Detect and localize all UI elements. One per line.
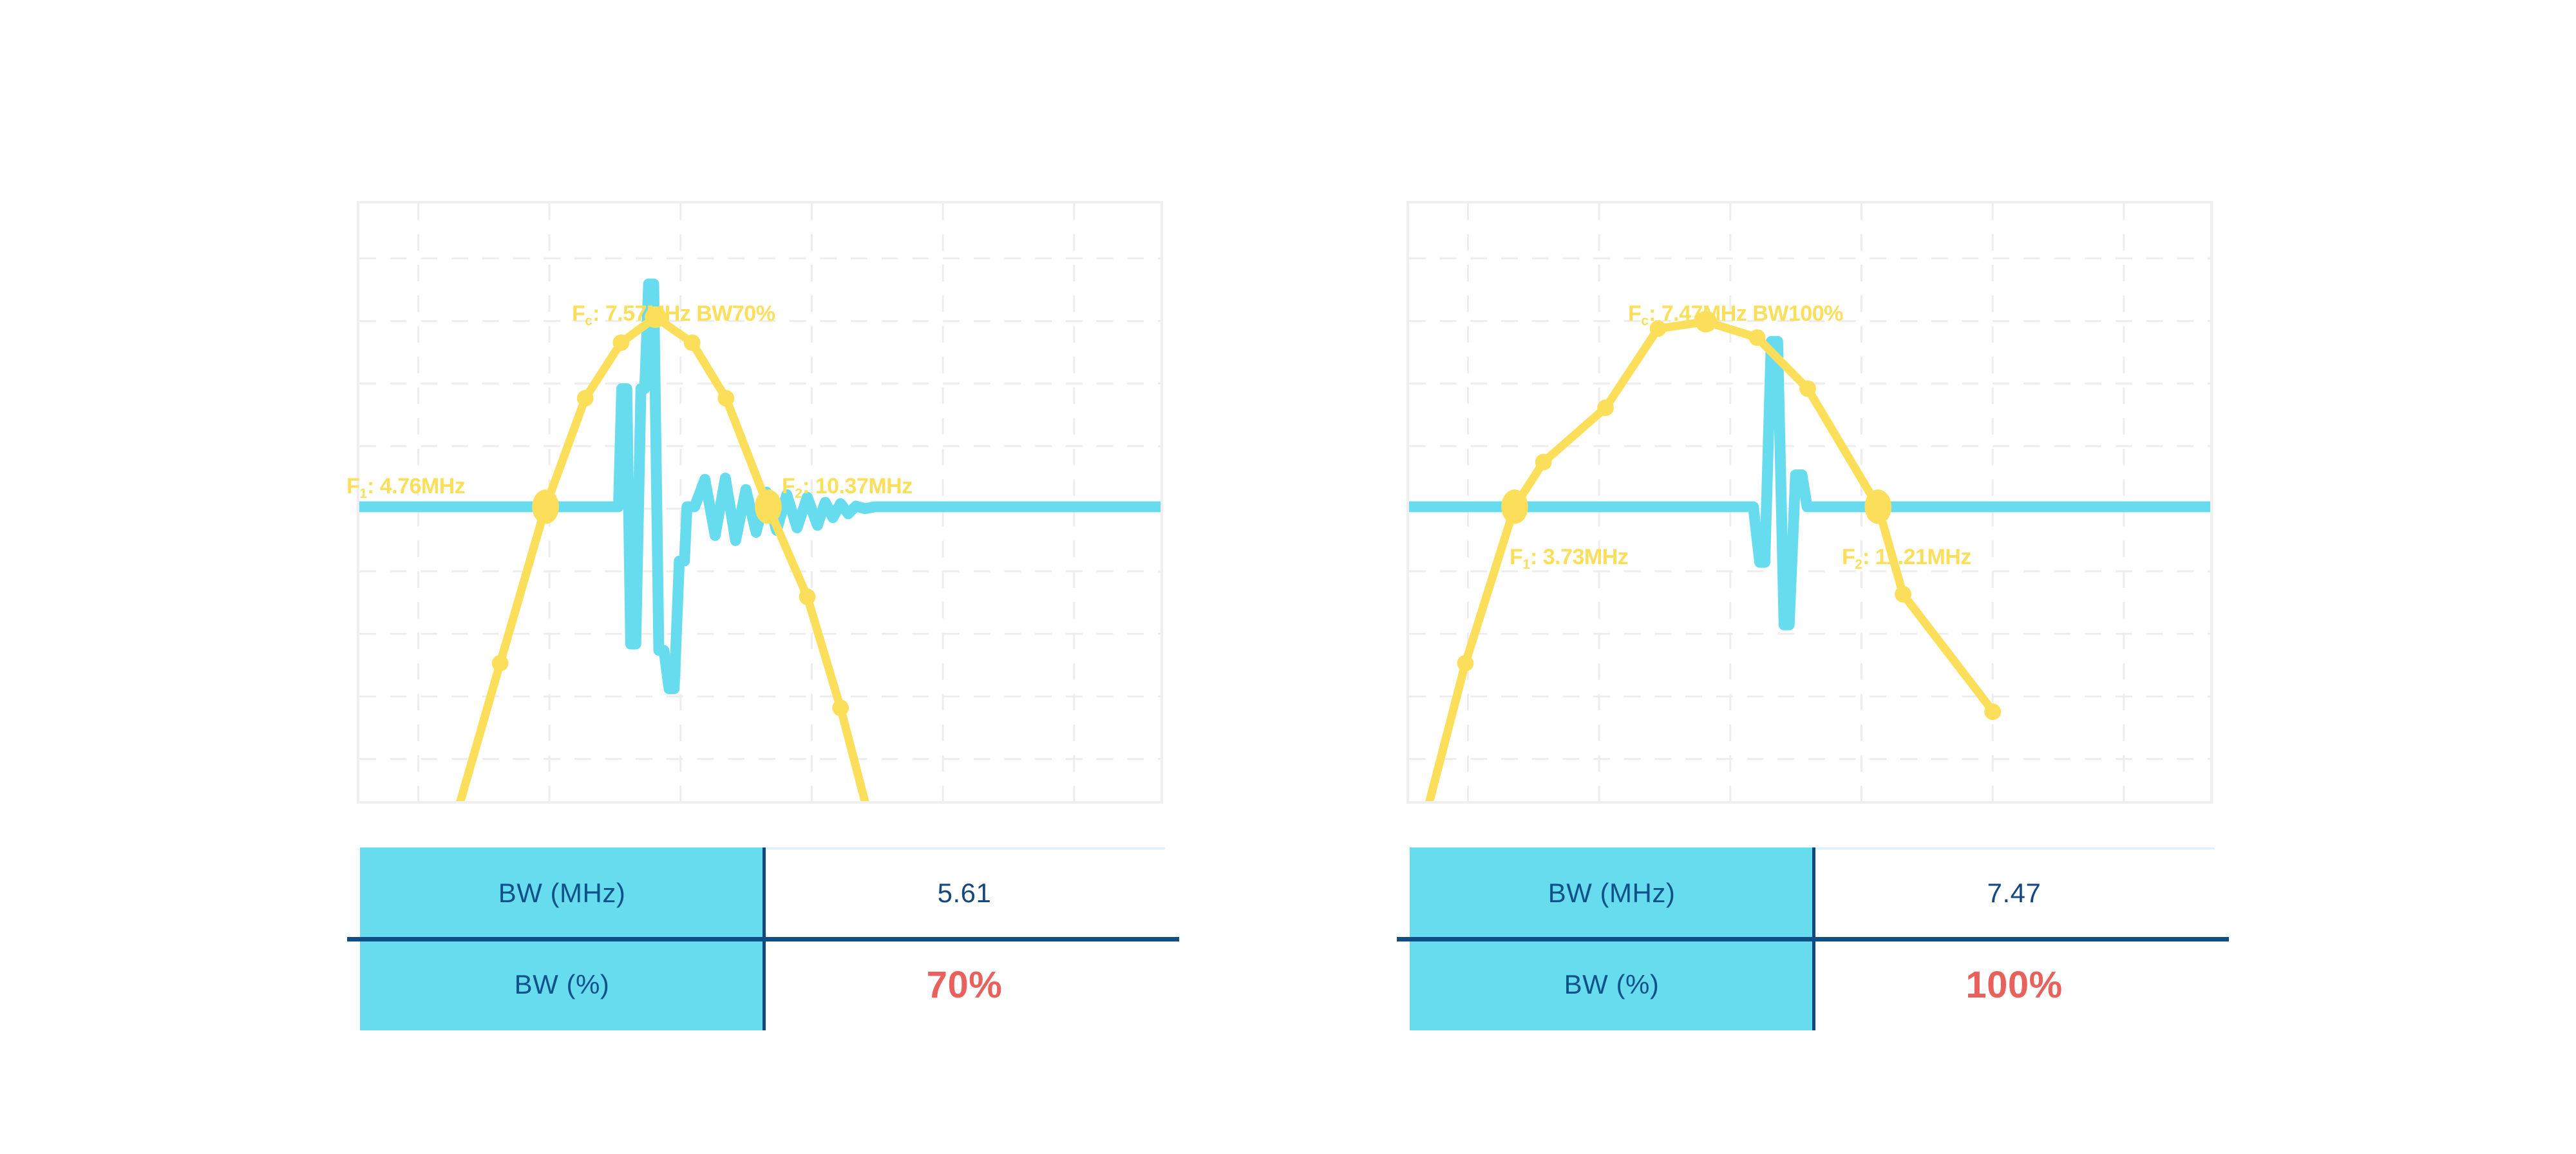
bw-mhz-value: 5.61	[938, 878, 992, 909]
marker-f1-right	[1501, 489, 1528, 524]
annotation-f1-right: F1: 3.73MHz	[1510, 545, 1628, 570]
table-row-divider-left	[347, 937, 1179, 941]
marker-f2-left	[755, 489, 782, 524]
marker-f1-left	[532, 489, 559, 524]
panel-left: Fc: 7.57MHz BW70% F1: 4.76MHz F2: 10.37M…	[335, 0, 1185, 1154]
figure-root: Fc: 7.57MHz BW70% F1: 4.76MHz F2: 10.37M…	[0, 0, 2576, 1154]
fc-subscript: c	[1641, 314, 1649, 328]
bw-pct-value-cell: 100%	[1814, 939, 2215, 1030]
bw-mhz-value: 7.47	[1987, 878, 2041, 909]
spectrum-markers-right	[1457, 311, 2002, 721]
bw-pct-label-cell: BW (%)	[1410, 939, 1814, 1030]
f1-value: : 3.73MHz	[1530, 545, 1628, 569]
bw-mhz-label: BW (MHz)	[498, 878, 626, 909]
f2-value: : 10.37MHz	[802, 474, 913, 498]
annotation-center-right: Fc: 7.47MHz BW100%	[1628, 301, 1843, 326]
annotation-f2-right: F2: 11.21MHz	[1842, 545, 1971, 570]
annotation-f1-left: F1: 4.76MHz	[346, 474, 465, 499]
bw-mhz-value-cell: 7.47	[1814, 847, 2215, 939]
table-row-divider-right	[1397, 937, 2229, 941]
bw-pct-label-cell: BW (%)	[360, 939, 764, 1030]
fc-symbol: F	[572, 301, 585, 326]
f1-subscript: 1	[1522, 557, 1530, 572]
annotation-f2-left: F2: 10.37MHz	[782, 474, 913, 499]
fc-value: : 7.57MHz BW70%	[592, 301, 775, 326]
annotation-center-left: Fc: 7.57MHz BW70%	[572, 301, 775, 326]
bw-mhz-value-cell: 5.61	[764, 847, 1165, 939]
bw-mhz-label-cell: BW (MHz)	[1410, 847, 1814, 939]
chart-right: Fc: 7.47MHz BW100% F1: 3.73MHz F2: 11.21…	[1406, 201, 2213, 804]
f1-symbol: F	[1510, 545, 1522, 569]
bw-mhz-label-cell: BW (MHz)	[360, 847, 764, 939]
fc-symbol: F	[1628, 301, 1641, 326]
bw-pct-label: BW (%)	[515, 969, 610, 1000]
chart-left: Fc: 7.57MHz BW70% F1: 4.76MHz F2: 10.37M…	[357, 201, 1163, 804]
f1-subscript: 1	[359, 486, 367, 501]
f1-symbol: F	[346, 474, 359, 498]
chart-right-svg	[1409, 203, 2210, 801]
f2-symbol: F	[1842, 545, 1855, 569]
bw-table-right: BW (MHz) 7.47 BW (%) 100%	[1410, 847, 2215, 1030]
panel-right: Fc: 7.47MHz BW100% F1: 3.73MHz F2: 11.21…	[1385, 0, 2235, 1154]
f2-subscript: 2	[1855, 557, 1862, 572]
f2-value: : 11.21MHz	[1862, 545, 1971, 569]
bw-pct-value: 70%	[927, 963, 1003, 1007]
bw-pct-label: BW (%)	[1564, 969, 1660, 1000]
bw-pct-value: 100%	[1965, 963, 2062, 1007]
fc-subscript: c	[585, 314, 592, 328]
bw-table-left: BW (MHz) 5.61 BW (%) 70%	[360, 847, 1165, 1030]
f1-value: : 4.76MHz	[367, 474, 465, 498]
marker-f2-right	[1864, 489, 1891, 524]
chart-left-svg	[359, 203, 1160, 801]
f2-symbol: F	[782, 474, 795, 498]
f2-subscript: 2	[795, 486, 802, 501]
bw-mhz-label: BW (MHz)	[1548, 878, 1676, 909]
fc-value: : 7.47MHz BW100%	[1649, 301, 1843, 326]
bw-pct-value-cell: 70%	[764, 939, 1165, 1030]
